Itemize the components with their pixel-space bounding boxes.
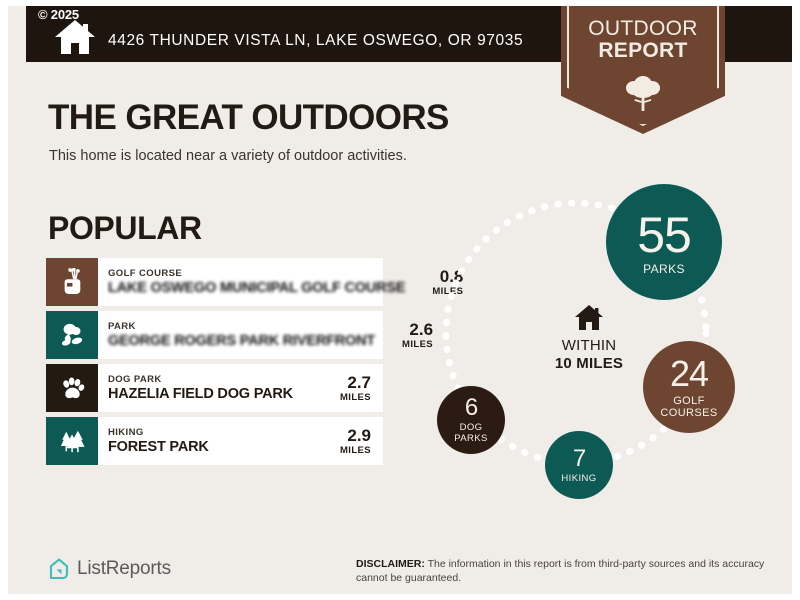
popular-list: GOLF COURSE LAKE OSWEGO MUNICIPAL GOLF C…	[46, 258, 383, 470]
stat-label-line1: GOLF	[673, 395, 705, 407]
list-item-distance: 2.9 MILES	[313, 417, 383, 465]
stat-label-line1: DOG	[460, 422, 483, 433]
golf-bag-icon	[46, 258, 98, 306]
stat-label: DOG PARKS	[454, 422, 488, 444]
outdoor-report-badge	[561, 6, 725, 134]
stat-label: PARKS	[643, 263, 685, 275]
list-item-text: PARK GEORGE ROGERS PARK RIVERFRONT	[98, 311, 375, 359]
infographic-center: WITHIN 10 MILES	[533, 304, 645, 373]
list-item[interactable]: HIKING FOREST PARK 2.9 MILES	[46, 417, 383, 465]
distance-unit: MILES	[340, 445, 371, 457]
distance-unit: MILES	[340, 392, 371, 404]
stat-label: GOLF COURSES	[660, 395, 717, 419]
list-item-name: HAZELIA FIELD DOG PARK	[108, 386, 313, 403]
list-item-name: LAKE OSWEGO MUNICIPAL GOLF COURSE	[108, 280, 405, 297]
distance-value: 2.7	[347, 373, 371, 392]
distance-value: 2.9	[347, 426, 371, 445]
stat-value: 55	[637, 210, 691, 260]
list-item-category: DOG PARK	[108, 374, 313, 386]
section-title-popular: POPULAR	[48, 210, 202, 247]
center-label-line2: 10 MILES	[533, 355, 645, 373]
stat-label-line2: COURSES	[660, 407, 717, 419]
home-icon	[574, 304, 604, 331]
stat-value: 7	[573, 447, 585, 471]
report-canvas: © 2025 4426 THUNDER VISTA LN, LAKE OSWEG…	[8, 6, 792, 594]
stat-label-line2: PARKS	[454, 433, 488, 444]
listreports-logo[interactable]: ListReports	[48, 558, 171, 580]
disclaimer: DISCLAIMER: The information in this repo…	[356, 557, 786, 585]
stat-value: 6	[465, 396, 477, 420]
list-item-text: GOLF COURSE LAKE OSWEGO MUNICIPAL GOLF C…	[98, 258, 405, 306]
property-address: 4426 THUNDER VISTA LN, LAKE OSWEGO, OR 9…	[108, 32, 523, 50]
park-tree-icon	[46, 311, 98, 359]
list-item-name: GEORGE ROGERS PARK RIVERFRONT	[108, 333, 375, 350]
stat-value: 24	[670, 356, 708, 392]
list-item[interactable]: GOLF COURSE LAKE OSWEGO MUNICIPAL GOLF C…	[46, 258, 383, 306]
stat-bubble-hiking[interactable]: 7 HIKING	[545, 431, 613, 499]
stat-bubble-parks[interactable]: 55 PARKS	[606, 184, 722, 300]
within-10-miles-infographic: 55 PARKS 24 GOLF COURSES 6 DOG PARKS 7	[428, 176, 792, 516]
list-item-name: FOREST PARK	[108, 439, 313, 456]
disclaimer-label: DISCLAIMER:	[356, 558, 425, 570]
list-item-text: DOG PARK HAZELIA FIELD DOG PARK	[98, 364, 313, 412]
outdoor-report-page: © 2025 4426 THUNDER VISTA LN, LAKE OSWEG…	[0, 0, 800, 600]
badge-inner-border	[567, 6, 719, 126]
stat-bubble-dog-parks[interactable]: 6 DOG PARKS	[437, 386, 505, 454]
list-item-category: PARK	[108, 321, 375, 333]
page-title: THE GREAT OUTDOORS	[48, 98, 449, 138]
paw-icon	[46, 364, 98, 412]
home-icon	[54, 18, 96, 56]
stat-bubble-golf-courses[interactable]: 24 GOLF COURSES	[643, 341, 735, 433]
listreports-house-icon	[48, 558, 70, 580]
list-item-category: GOLF COURSE	[108, 268, 405, 280]
list-item-distance: 2.7 MILES	[313, 364, 383, 412]
listreports-wordmark: ListReports	[77, 558, 171, 580]
center-label-line1: WITHIN	[533, 337, 645, 355]
pine-trees-icon	[46, 417, 98, 465]
stat-label: HIKING	[561, 473, 596, 484]
list-item-text: HIKING FOREST PARK	[98, 417, 313, 465]
list-item[interactable]: PARK GEORGE ROGERS PARK RIVERFRONT 2.6 M…	[46, 311, 383, 359]
list-item-category: HIKING	[108, 427, 313, 439]
page-subtitle: This home is located near a variety of o…	[49, 148, 407, 164]
list-item[interactable]: DOG PARK HAZELIA FIELD DOG PARK 2.7 MILE…	[46, 364, 383, 412]
